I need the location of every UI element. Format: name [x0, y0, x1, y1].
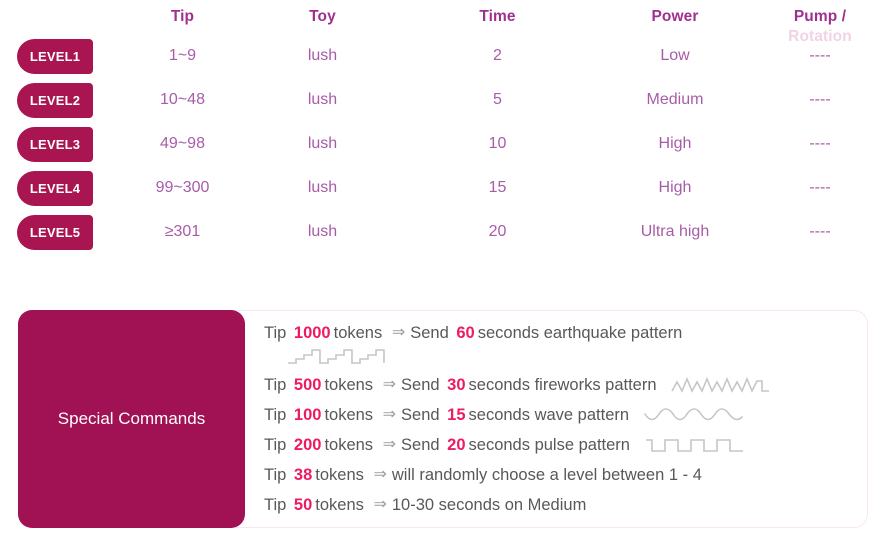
cell-toy: lush — [235, 91, 410, 109]
command-duration: 60 — [453, 318, 477, 348]
command-tokens: tokens — [334, 318, 387, 348]
table-row: LEVEL1 1~9 lush 2 Low ---- — [0, 34, 886, 78]
cell-time: 15 — [410, 179, 585, 197]
command-action-prefix: Send — [401, 430, 444, 460]
cell-level: LEVEL1 — [0, 39, 130, 74]
command-prefix: Tip — [264, 370, 291, 400]
command-prefix: Tip — [264, 318, 291, 348]
arrow-right-icon: ⇒ — [387, 318, 410, 348]
table-row: LEVEL3 49~98 lush 10 High ---- — [0, 122, 886, 166]
header-cell-power: Power — [585, 8, 765, 26]
command-action-prefix: Send — [410, 318, 453, 348]
command-action-prefix: Send — [401, 400, 444, 430]
cell-toy: lush — [235, 179, 410, 197]
cell-tip: 1~9 — [130, 47, 235, 65]
special-commands-section: Special Commands Tip 1000 tokens ⇒ Send … — [18, 310, 868, 530]
command-line[interactable]: Tip 200 tokens ⇒ Send 20 seconds pulse p… — [264, 430, 864, 460]
arrow-right-icon: ⇒ — [368, 460, 391, 490]
special-commands-label: Special Commands — [18, 310, 245, 528]
table-row: LEVEL2 10~48 lush 5 Medium ---- — [0, 78, 886, 122]
cell-time: 5 — [410, 91, 585, 109]
cell-level: LEVEL3 — [0, 127, 130, 162]
header-cell-tip: Tip — [130, 8, 235, 26]
arrow-right-icon: ⇒ — [368, 490, 391, 520]
cell-pump: ---- — [765, 47, 875, 65]
cell-level: LEVEL5 — [0, 215, 130, 250]
header-cell-pump-line1: Pump / — [794, 8, 846, 25]
cell-time: 2 — [410, 47, 585, 65]
command-action-suffix: 10-30 seconds on Medium — [392, 490, 591, 520]
command-action-suffix: will randomly choose a level between 1 -… — [392, 460, 707, 490]
arrow-right-icon: ⇒ — [378, 430, 401, 460]
cell-power: Ultra high — [585, 223, 765, 241]
command-tokens: tokens — [324, 400, 377, 430]
command-duration: 20 — [444, 430, 468, 460]
command-tokens: tokens — [315, 490, 368, 520]
cell-power: High — [585, 135, 765, 153]
cell-power: High — [585, 179, 765, 197]
cell-level: LEVEL2 — [0, 83, 130, 118]
level-badge[interactable]: LEVEL2 — [17, 83, 93, 118]
command-action-suffix: seconds fireworks pattern — [469, 370, 662, 400]
cell-tip: 10~48 — [130, 91, 235, 109]
command-line[interactable]: Tip 500 tokens ⇒ Send 30 seconds firewor… — [264, 370, 864, 400]
command-amount: 50 — [291, 490, 315, 520]
pulse-pattern-icon — [645, 435, 745, 455]
cell-toy: lush — [235, 47, 410, 65]
cell-time: 10 — [410, 135, 585, 153]
command-amount: 38 — [291, 460, 315, 490]
level-badge[interactable]: LEVEL4 — [17, 171, 93, 206]
command-amount: 1000 — [291, 318, 334, 348]
command-tokens: tokens — [315, 460, 368, 490]
cell-pump: ---- — [765, 91, 875, 109]
command-prefix: Tip — [264, 430, 291, 460]
cell-toy: lush — [235, 135, 410, 153]
header-cell-pump: Pump / Rotation — [765, 8, 875, 26]
earthquake-pattern-icon — [286, 346, 864, 368]
fireworks-pattern-icon — [671, 375, 771, 395]
arrow-right-icon: ⇒ — [378, 370, 401, 400]
command-amount: 500 — [291, 370, 325, 400]
command-duration: 30 — [444, 370, 468, 400]
cell-tip: 49~98 — [130, 135, 235, 153]
command-duration: 15 — [444, 400, 468, 430]
cell-tip: ≥301 — [130, 223, 235, 241]
command-tokens: tokens — [324, 430, 377, 460]
cell-tip: 99~300 — [130, 179, 235, 197]
command-action-suffix: seconds pulse pattern — [469, 430, 635, 460]
cell-power: Medium — [585, 91, 765, 109]
cell-pump: ---- — [765, 135, 875, 153]
command-prefix: Tip — [264, 460, 291, 490]
command-line[interactable]: Tip 38 tokens ⇒ will randomly choose a l… — [264, 460, 864, 490]
command-action-suffix: seconds wave pattern — [469, 400, 634, 430]
command-prefix: Tip — [264, 490, 291, 520]
cell-pump: ---- — [765, 179, 875, 197]
cell-pump: ---- — [765, 223, 875, 241]
command-action-suffix: seconds earthquake pattern — [478, 318, 687, 348]
special-commands-list: Tip 1000 tokens ⇒ Send 60 seconds earthq… — [264, 318, 864, 520]
command-line[interactable]: Tip 50 tokens ⇒ 10-30 seconds on Medium — [264, 490, 864, 520]
level-badge[interactable]: LEVEL3 — [17, 127, 93, 162]
command-line[interactable]: Tip 100 tokens ⇒ Send 15 seconds wave pa… — [264, 400, 864, 430]
cell-time: 20 — [410, 223, 585, 241]
cell-toy: lush — [235, 223, 410, 241]
tip-level-table: Tip Toy Time Power Pump / Rotation LEVEL… — [0, 0, 886, 254]
wave-pattern-icon — [644, 405, 744, 425]
command-amount: 100 — [291, 400, 325, 430]
cell-power: Low — [585, 47, 765, 65]
header-cell-time: Time — [410, 8, 585, 26]
command-action-prefix: Send — [401, 370, 444, 400]
cell-level: LEVEL4 — [0, 171, 130, 206]
command-tokens: tokens — [324, 370, 377, 400]
table-row: LEVEL5 ≥301 lush 20 Ultra high ---- — [0, 210, 886, 254]
header-cell-toy: Toy — [235, 8, 410, 26]
command-line[interactable]: Tip 1000 tokens ⇒ Send 60 seconds earthq… — [264, 318, 864, 348]
table-header-row: Tip Toy Time Power Pump / Rotation — [0, 0, 886, 34]
level-badge[interactable]: LEVEL1 — [17, 39, 93, 74]
level-badge[interactable]: LEVEL5 — [17, 215, 93, 250]
command-amount: 200 — [291, 430, 325, 460]
command-prefix: Tip — [264, 400, 291, 430]
arrow-right-icon: ⇒ — [378, 400, 401, 430]
table-row: LEVEL4 99~300 lush 15 High ---- — [0, 166, 886, 210]
